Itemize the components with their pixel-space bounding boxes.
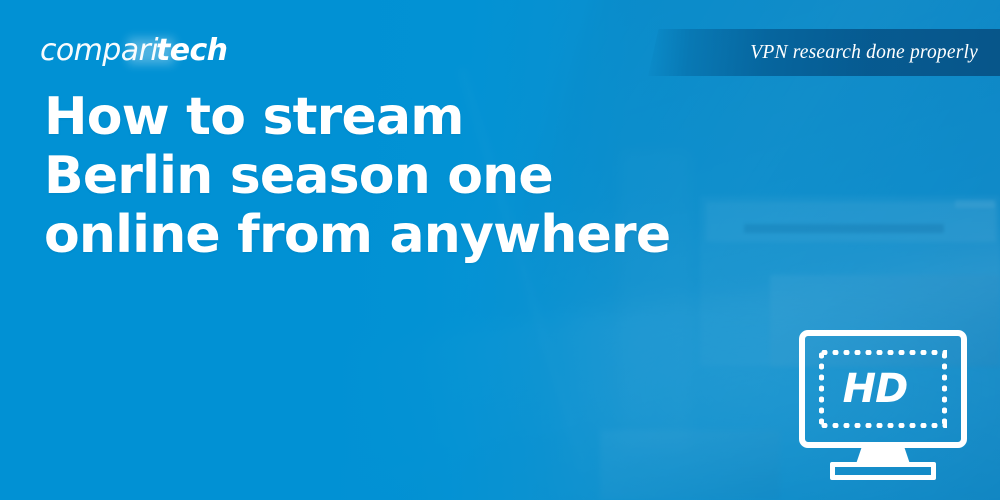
- tagline-text: VPN research done properly: [750, 42, 1000, 64]
- monitor-stand-base: [830, 462, 936, 480]
- hd-monitor-icon: HD: [799, 330, 975, 480]
- headline-line-2: Berlin season one: [44, 147, 684, 206]
- tagline-banner: VPN research done properly: [648, 29, 1000, 76]
- headline-line-1: How to stream: [44, 88, 684, 147]
- article-hero-banner: comparitech VPN research done properly H…: [0, 0, 1000, 500]
- logo-wordmark-bold: tech: [156, 33, 227, 68]
- page-title: How to stream Berlin season one online f…: [44, 88, 684, 265]
- hd-badge-label: HD: [799, 330, 967, 448]
- comparitech-logo[interactable]: comparitech: [40, 31, 227, 71]
- headline-line-3: online from anywhere: [44, 206, 684, 265]
- logo-wordmark-light: compari: [40, 33, 158, 68]
- logo-wordmark: comparitech: [40, 36, 227, 66]
